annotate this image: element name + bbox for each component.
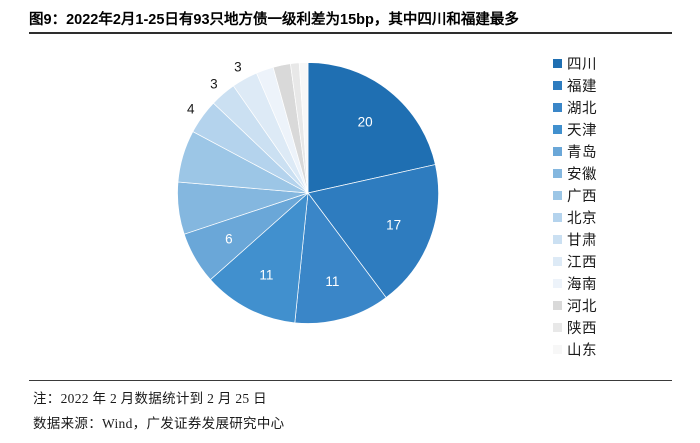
legend-item-label: 甘肃 [567, 229, 597, 250]
legend-item-label: 海南 [567, 273, 597, 294]
legend-item-label: 四川 [567, 53, 597, 74]
legend-item-label: 天津 [567, 119, 597, 140]
chart-area: 201711116664332211 四川福建湖北天津青岛安徽广西北京甘肃江西海… [29, 40, 672, 376]
legend-color-swatch [553, 213, 562, 222]
legend-item-label: 山东 [567, 339, 597, 360]
legend-item[interactable]: 北京 [553, 206, 671, 228]
legend-color-swatch [553, 81, 562, 90]
legend-item-label: 安徽 [567, 163, 597, 184]
pie-slice-label: 11 [259, 267, 273, 282]
legend-color-swatch [553, 279, 562, 288]
pie-slice-group [178, 63, 439, 324]
pie-slice-label: 2 [256, 62, 264, 65]
legend-item[interactable]: 海南 [553, 272, 671, 294]
pie-slice-label: 3 [210, 76, 218, 91]
legend-item[interactable]: 山东 [553, 338, 671, 360]
legend-item[interactable]: 陕西 [553, 316, 671, 338]
legend-color-swatch [553, 59, 562, 68]
legend-item-label: 北京 [567, 207, 597, 228]
pie-slice-label: 17 [386, 218, 401, 233]
legend-color-swatch [553, 191, 562, 200]
legend-item-label: 广西 [567, 185, 597, 206]
footer-divider [29, 380, 672, 381]
title-divider [29, 32, 672, 34]
legend-color-swatch [553, 125, 562, 134]
footer-notes: 注：2022 年 2 月数据统计到 2 月 25 日 数据来源：Wind，广发证… [33, 386, 633, 436]
pie-chart-svg: 201711116664332211 [177, 62, 439, 324]
legend-color-swatch [553, 301, 562, 310]
legend-item[interactable]: 安徽 [553, 162, 671, 184]
legend-color-swatch [553, 345, 562, 354]
legend-item-label: 陕西 [567, 317, 597, 338]
legend-item[interactable]: 湖北 [553, 96, 671, 118]
legend-color-swatch [553, 147, 562, 156]
legend-item[interactable]: 福建 [553, 74, 671, 96]
pie-slice-label: 6 [225, 232, 233, 247]
legend-item-label: 青岛 [567, 141, 597, 162]
pie-slice-label: 11 [325, 274, 339, 289]
figure-card: 图9：2022年2月1-25日有93只地方债一级利差为15bp，其中四川和福建最… [0, 0, 700, 443]
legend-item[interactable]: 甘肃 [553, 228, 671, 250]
legend-item[interactable]: 河北 [553, 294, 671, 316]
legend-item[interactable]: 天津 [553, 118, 671, 140]
pie-slice-label: 3 [234, 62, 242, 75]
pie-slice-label: 4 [187, 101, 195, 116]
legend-item-label: 江西 [567, 251, 597, 272]
figure-note: 注：2022 年 2 月数据统计到 2 月 25 日 [33, 386, 633, 411]
legend-item[interactable]: 广西 [553, 184, 671, 206]
legend-item-label: 湖北 [567, 97, 597, 118]
legend-item[interactable]: 四川 [553, 52, 671, 74]
legend-color-swatch [553, 323, 562, 332]
legend-color-swatch [553, 103, 562, 112]
legend-color-swatch [553, 257, 562, 266]
pie-chart: 201711116664332211 [177, 62, 439, 324]
legend-color-swatch [553, 169, 562, 178]
legend-item[interactable]: 江西 [553, 250, 671, 272]
pie-slice-label: 20 [358, 115, 373, 130]
legend-item-label: 福建 [567, 75, 597, 96]
legend-item-label: 河北 [567, 295, 597, 316]
figure-source: 数据来源：Wind，广发证券发展研究中心 [33, 411, 633, 436]
legend-item[interactable]: 青岛 [553, 140, 671, 162]
figure-title: 图9：2022年2月1-25日有93只地方债一级利差为15bp，其中四川和福建最… [29, 8, 679, 29]
legend-color-swatch [553, 235, 562, 244]
legend: 四川福建湖北天津青岛安徽广西北京甘肃江西海南河北陕西山东 [553, 52, 671, 360]
